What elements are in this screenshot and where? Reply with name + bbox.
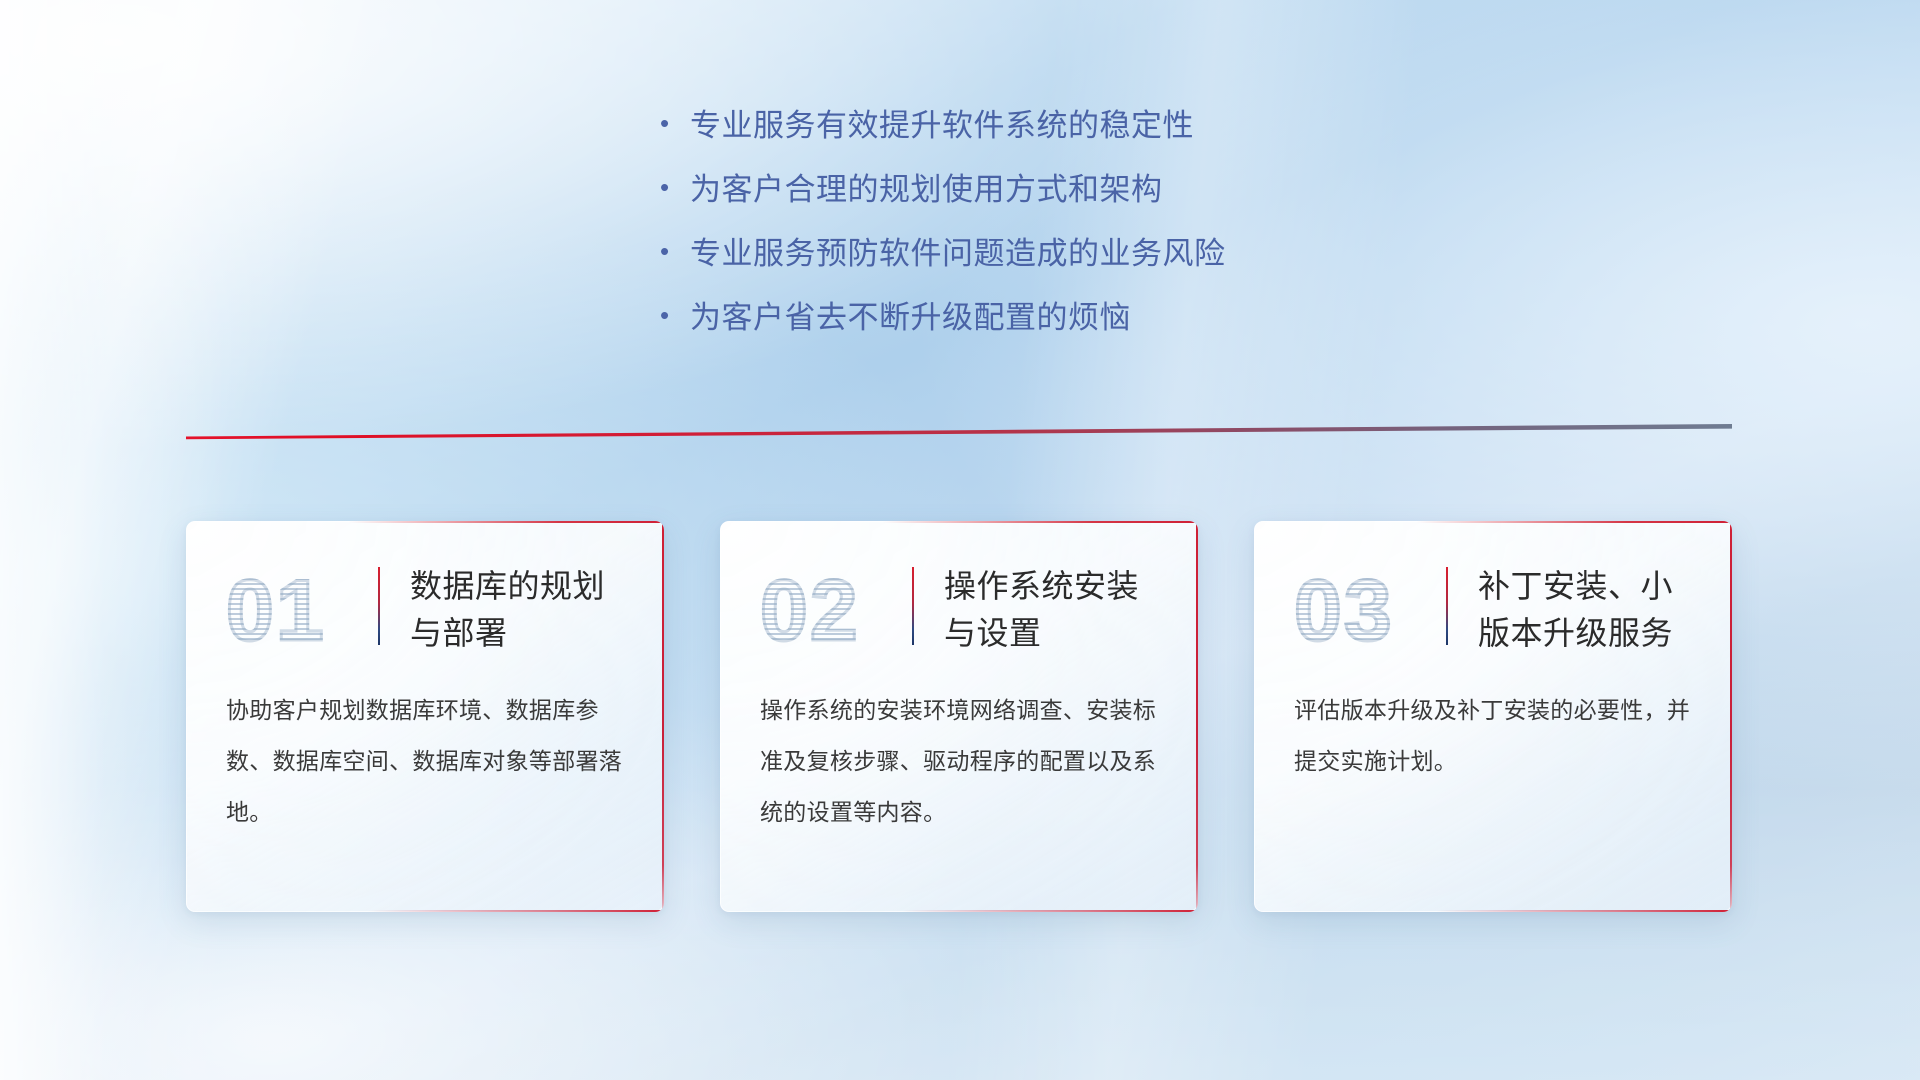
service-card-01[interactable]: 01 数据库的规划与部署 协助客户规划数据库环境、数据库参数、数据库空间、数据库…: [186, 521, 664, 912]
bullet-text: 为客户省去不断升级配置的烦恼: [690, 292, 1131, 337]
service-card-03[interactable]: 03 补丁安装、小版本升级服务 评估版本升级及补丁安装的必要性，并提交实施计划。: [1254, 521, 1732, 912]
card-title: 操作系统安装与设置: [944, 563, 1164, 657]
card-header: 02 操作系统安装与设置: [720, 521, 1198, 685]
card-body-text: 评估版本升级及补丁安装的必要性，并提交实施计划。: [1254, 685, 1732, 787]
card-number-watermark: 01: [226, 563, 378, 659]
list-item: 为客户合理的规划使用方式和架构: [660, 164, 1226, 228]
card-header: 01 数据库的规划与部署: [186, 521, 664, 685]
card-title-divider-rule: [1446, 567, 1448, 645]
bullet-text: 为客户合理的规划使用方式和架构: [690, 164, 1163, 209]
card-number-watermark: 02: [760, 563, 912, 659]
bullet-text: 专业服务有效提升软件系统的稳定性: [690, 100, 1194, 145]
card-bottom-accent-line: [902, 910, 1198, 912]
bullet-dot-icon: [660, 174, 690, 200]
tapered-divider-icon: [186, 424, 1732, 444]
bullet-dot-icon: [660, 238, 690, 264]
service-card-list: 01 数据库的规划与部署 协助客户规划数据库环境、数据库参数、数据库空间、数据库…: [186, 521, 1732, 912]
bullet-dot-icon: [660, 302, 690, 328]
bullet-dot-icon: [660, 110, 690, 136]
list-item: 专业服务有效提升软件系统的稳定性: [660, 100, 1226, 164]
list-item: 专业服务预防软件问题造成的业务风险: [660, 228, 1226, 292]
benefits-bullet-list: 专业服务有效提升软件系统的稳定性 为客户合理的规划使用方式和架构 专业服务预防软…: [660, 100, 1226, 356]
section-divider: [186, 424, 1732, 444]
card-title-divider-rule: [912, 567, 914, 645]
list-item: 为客户省去不断升级配置的烦恼: [660, 292, 1226, 356]
card-bottom-accent-line: [368, 910, 664, 912]
service-card-02[interactable]: 02 操作系统安装与设置 操作系统的安装环境网络调查、安装标准及复核步骤、驱动程…: [720, 521, 1198, 912]
card-header: 03 补丁安装、小版本升级服务: [1254, 521, 1732, 685]
card-title: 数据库的规划与部署: [410, 563, 630, 657]
card-body-text: 协助客户规划数据库环境、数据库参数、数据库空间、数据库对象等部署落地。: [186, 685, 664, 838]
slide-canvas: 专业服务有效提升软件系统的稳定性 为客户合理的规划使用方式和架构 专业服务预防软…: [0, 0, 1920, 1080]
card-body-text: 操作系统的安装环境网络调查、安装标准及复核步骤、驱动程序的配置以及系统的设置等内…: [720, 685, 1198, 838]
bullet-text: 专业服务预防软件问题造成的业务风险: [690, 228, 1226, 273]
card-title: 补丁安装、小版本升级服务: [1478, 563, 1698, 657]
card-bottom-accent-line: [1436, 910, 1732, 912]
card-title-divider-rule: [378, 567, 380, 645]
card-number-watermark: 03: [1294, 563, 1446, 659]
